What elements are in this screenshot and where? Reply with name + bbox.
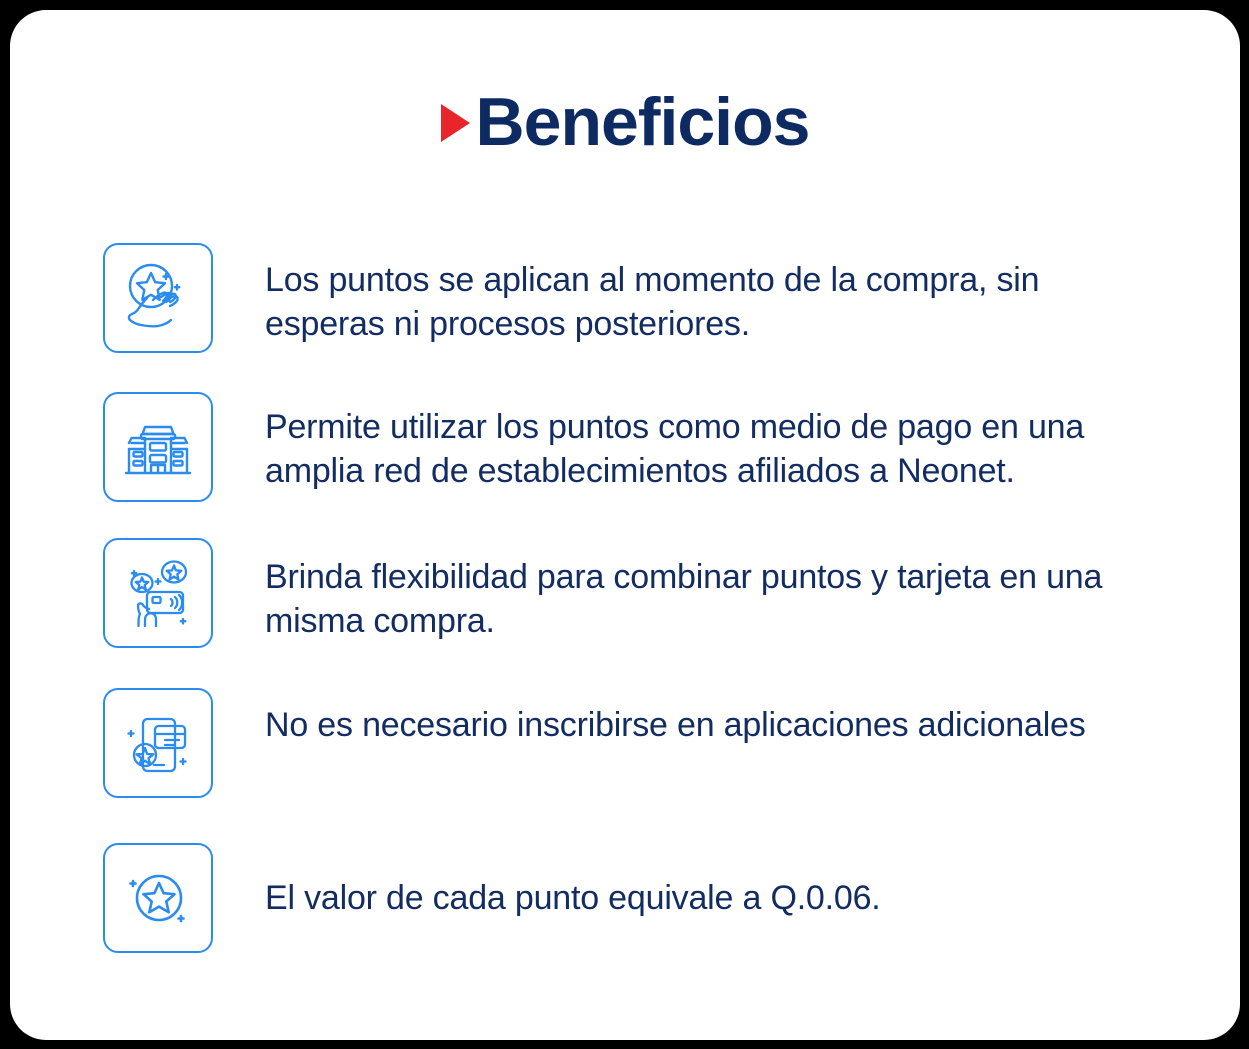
- benefits-list: Los puntos se aplican al momento de la c…: [93, 243, 1163, 953]
- smartphone-card-star-icon: [103, 688, 213, 798]
- page-title: Beneficios: [476, 88, 810, 156]
- benefit-text: Brinda flexibilidad para combinar puntos…: [265, 538, 1163, 643]
- benefit-item: Los puntos se aplican al momento de la c…: [93, 243, 1163, 392]
- benefits-card: Beneficios Los puntos se aplican al mome…: [10, 10, 1240, 1040]
- hand-holding-contactless-card-icon: [103, 538, 213, 648]
- benefit-text: Permite utilizar los puntos como medio d…: [265, 392, 1163, 493]
- benefit-item: No es necesario inscribirse en aplicacio…: [93, 688, 1163, 843]
- benefit-text: No es necesario inscribirse en aplicacio…: [265, 688, 1163, 748]
- store-building-icon: [103, 392, 213, 502]
- benefit-item: Permite utilizar los puntos como medio d…: [93, 392, 1163, 538]
- page-title-row: Beneficios: [10, 88, 1240, 156]
- hand-tap-star-coin-icon: [103, 243, 213, 353]
- benefit-item: Brinda flexibilidad para combinar puntos…: [93, 538, 1163, 688]
- benefit-item: El valor de cada punto equivale a Q.0.06…: [93, 843, 1163, 953]
- benefit-text: El valor de cada punto equivale a Q.0.06…: [265, 843, 1163, 921]
- benefit-text: Los puntos se aplican al momento de la c…: [265, 243, 1163, 346]
- star-in-circle-icon: [103, 843, 213, 953]
- red-triangle-marker-icon: [441, 104, 470, 142]
